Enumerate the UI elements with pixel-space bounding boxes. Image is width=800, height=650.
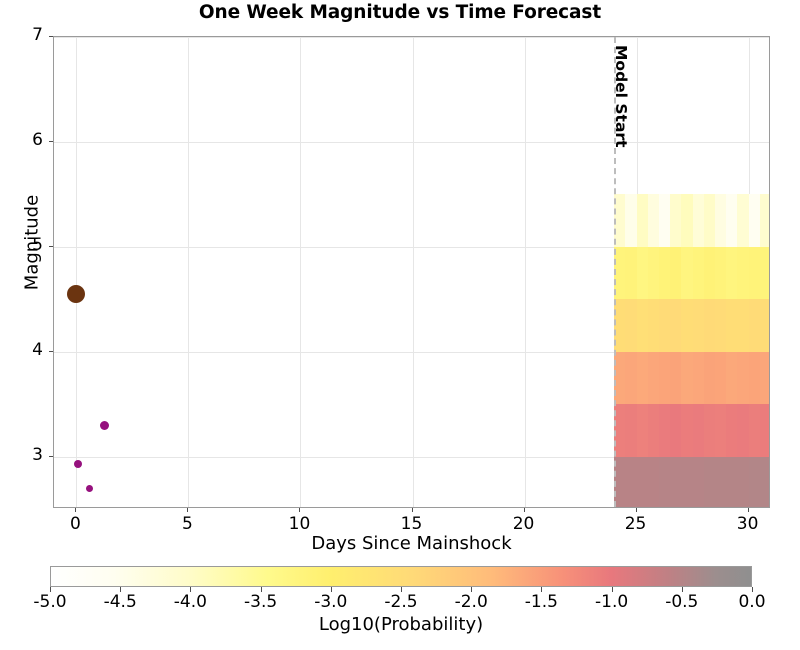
x-tick xyxy=(299,508,300,512)
heatmap-magnitude-band xyxy=(614,352,770,404)
y-tick-label: 3 xyxy=(0,445,43,465)
y-tick xyxy=(49,141,53,142)
heatmap-cell xyxy=(670,299,681,351)
heatmap-cell xyxy=(659,247,670,299)
heatmap-magnitude-band xyxy=(614,247,770,299)
heatmap-cell xyxy=(670,457,681,508)
x-tick xyxy=(412,508,413,512)
heatmap-cell xyxy=(625,352,636,404)
colorbar-tick xyxy=(682,587,683,592)
heatmap-cell xyxy=(681,457,692,508)
heatmap-cell xyxy=(693,352,704,404)
model-start-label: Model Start xyxy=(612,45,630,147)
heatmap-cell xyxy=(760,404,770,456)
heatmap-magnitude-band xyxy=(614,299,770,351)
heatmap-cell xyxy=(737,352,748,404)
heatmap-cell xyxy=(760,352,770,404)
heatmap-cell xyxy=(704,194,715,246)
x-tick-label: 0 xyxy=(50,514,100,534)
heatmap-cell xyxy=(693,247,704,299)
heatmap-cell xyxy=(648,194,659,246)
heatmap-cell xyxy=(715,194,726,246)
heatmap-cell xyxy=(681,247,692,299)
colorbar-tick-label: -4.5 xyxy=(85,592,155,612)
heatmap-cell xyxy=(648,247,659,299)
heatmap-cell xyxy=(625,457,636,508)
x-tick xyxy=(75,508,76,512)
colorbar-gradient xyxy=(50,566,752,587)
heatmap-cell xyxy=(715,457,726,508)
x-tick-label: 30 xyxy=(723,514,773,534)
heatmap-cell xyxy=(749,247,760,299)
heatmap-magnitude-band xyxy=(614,457,770,508)
colorbar-tick-label: -2.5 xyxy=(366,592,436,612)
heatmap-cell xyxy=(637,299,648,351)
heatmap-cell xyxy=(681,299,692,351)
plot-area: Model Start xyxy=(53,36,770,508)
heatmap-cell xyxy=(726,299,737,351)
y-axis-label: Magnitude xyxy=(22,133,43,353)
heatmap-cell xyxy=(659,352,670,404)
heatmap-cell xyxy=(625,247,636,299)
x-tick xyxy=(636,508,637,512)
x-tick xyxy=(748,508,749,512)
colorbar-tick xyxy=(50,587,51,592)
x-tick-label: 15 xyxy=(387,514,437,534)
colorbar-tick-label: -4.0 xyxy=(155,592,225,612)
heatmap-cell xyxy=(760,299,770,351)
heatmap-cell xyxy=(749,194,760,246)
x-tick-label: 25 xyxy=(611,514,661,534)
heatmap-cell xyxy=(726,247,737,299)
chart-title: One Week Magnitude vs Time Forecast xyxy=(0,2,800,23)
heatmap-cell xyxy=(749,299,760,351)
heatmap-cell xyxy=(637,457,648,508)
heatmap-cell xyxy=(737,247,748,299)
heatmap-cell xyxy=(726,352,737,404)
heatmap-cell xyxy=(648,457,659,508)
x-tick xyxy=(187,508,188,512)
heatmap-cell xyxy=(637,194,648,246)
heatmap-cell xyxy=(737,404,748,456)
colorbar-tick-label: -2.0 xyxy=(436,592,506,612)
heatmap-cell xyxy=(749,352,760,404)
colorbar-tick xyxy=(190,587,191,592)
heatmap-cell xyxy=(704,457,715,508)
colorbar-tick-label: -5.0 xyxy=(15,592,85,612)
heatmap-cell xyxy=(704,404,715,456)
heatmap-cell xyxy=(693,404,704,456)
colorbar-tick xyxy=(541,587,542,592)
earthquake-point xyxy=(100,421,109,430)
heatmap-cell xyxy=(670,404,681,456)
heatmap-cell xyxy=(726,194,737,246)
y-tick-label: 7 xyxy=(0,25,43,45)
heatmap-cell xyxy=(737,457,748,508)
colorbar-tick-label: 0.0 xyxy=(717,592,787,612)
y-tick xyxy=(49,456,53,457)
x-axis-label: Days Since Mainshock xyxy=(53,533,770,554)
earthquake-point xyxy=(74,460,82,468)
heatmap-cell xyxy=(715,247,726,299)
heatmap-cell xyxy=(659,194,670,246)
colorbar-tick-label: -1.0 xyxy=(577,592,647,612)
heatmap-cell xyxy=(670,352,681,404)
y-tick xyxy=(49,36,53,37)
heatmap-cell xyxy=(659,404,670,456)
heatmap-cell xyxy=(726,457,737,508)
colorbar-tick-label: -0.5 xyxy=(647,592,717,612)
heatmap-cell xyxy=(749,404,760,456)
heatmap-cell xyxy=(637,352,648,404)
colorbar-tick xyxy=(120,587,121,592)
colorbar-tick xyxy=(261,587,262,592)
heatmap-cell xyxy=(760,457,770,508)
heatmap-cell xyxy=(681,194,692,246)
heatmap-cell xyxy=(648,352,659,404)
heatmap-cell xyxy=(637,247,648,299)
y-tick xyxy=(49,246,53,247)
heatmap-cell xyxy=(681,352,692,404)
earthquake-point xyxy=(86,485,93,492)
heatmap-cell xyxy=(737,194,748,246)
heatmap-cell xyxy=(637,404,648,456)
heatmap-magnitude-band xyxy=(614,404,770,456)
heatmap-cell xyxy=(749,457,760,508)
heatmap-cell xyxy=(715,299,726,351)
heatmap-cell xyxy=(670,247,681,299)
heatmap-cell xyxy=(704,247,715,299)
heatmap-cell xyxy=(648,299,659,351)
heatmap-cell xyxy=(715,404,726,456)
heatmap-cell xyxy=(726,404,737,456)
colorbar-tick xyxy=(401,587,402,592)
heatmap-cell xyxy=(659,299,670,351)
colorbar-tick-label: -3.5 xyxy=(226,592,296,612)
heatmap-cell xyxy=(625,404,636,456)
colorbar-label: Log10(Probability) xyxy=(50,614,752,635)
heatmap-cell xyxy=(648,404,659,456)
heatmap-magnitude-band xyxy=(614,194,770,246)
colorbar-tick xyxy=(612,587,613,592)
heatmap-cell xyxy=(704,352,715,404)
x-tick-label: 5 xyxy=(162,514,212,534)
colorbar-tick xyxy=(471,587,472,592)
colorbar-tick xyxy=(331,587,332,592)
forecast-figure: One Week Magnitude vs Time Forecast Mode… xyxy=(0,0,800,650)
heatmap-cell xyxy=(715,352,726,404)
heatmap-cell xyxy=(737,299,748,351)
probability-heatmap xyxy=(54,37,769,507)
heatmap-cell xyxy=(693,194,704,246)
heatmap-cell xyxy=(670,194,681,246)
heatmap-cell xyxy=(625,194,636,246)
heatmap-cell xyxy=(760,194,770,246)
colorbar-tick-label: -3.0 xyxy=(296,592,366,612)
colorbar-tick-label: -1.5 xyxy=(506,592,576,612)
heatmap-cell xyxy=(760,247,770,299)
y-tick xyxy=(49,351,53,352)
heatmap-cell xyxy=(659,457,670,508)
heatmap-cell xyxy=(693,299,704,351)
heatmap-cell xyxy=(693,457,704,508)
x-tick-label: 20 xyxy=(499,514,549,534)
x-tick-label: 10 xyxy=(274,514,324,534)
heatmap-cell xyxy=(625,299,636,351)
heatmap-cell xyxy=(704,299,715,351)
heatmap-cell xyxy=(681,404,692,456)
x-tick xyxy=(524,508,525,512)
colorbar-tick xyxy=(752,587,753,592)
